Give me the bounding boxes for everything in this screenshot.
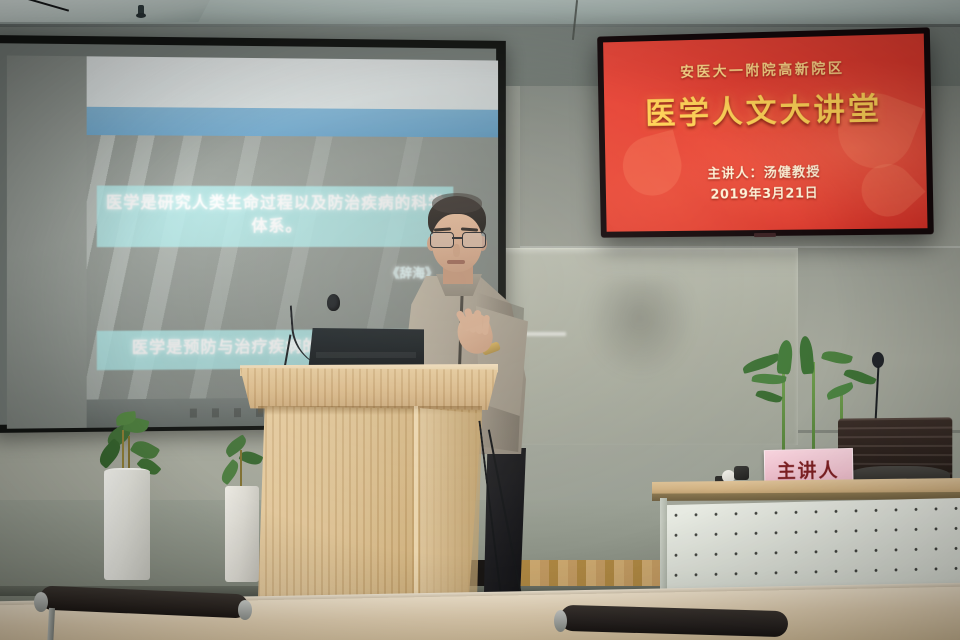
eyeglass-lens [462,232,486,248]
ceiling-seam [0,24,960,27]
wood-grain [240,368,498,410]
tv-event-title: 医学人文大讲堂 [604,82,926,134]
podium-edge-highlight [414,406,418,602]
laptop-screen-glint [316,352,416,358]
slide-blue-band [87,107,498,138]
eyeglass-lens [430,232,454,248]
planter-pot [104,470,150,580]
podium-top [240,368,498,410]
eyeglass-bridge [452,237,462,239]
tv-brand-logo [754,233,776,237]
presenter-mouth [447,260,465,264]
nameplate-label: 主讲人 [777,455,840,483]
chair-frame [47,608,55,640]
lecture-hall-photo: 医学是研究人类生命过程以及防治疾病的科学体系。 《辞海》 医学是预防与治疗疾病的… [0,0,960,640]
wall-mounted-tv: 安医大一附院高新院区 医学人文大讲堂 主讲人：汤健教授 2019年3月21日 [597,27,934,237]
planter-pot [225,486,259,582]
chair-backrest [560,605,789,637]
podium-microphone-head [327,294,340,311]
chair-backrest [40,585,249,618]
ceiling-vent [0,0,210,22]
foreground-chair-left [40,590,250,640]
foreground-chair-right [560,608,790,640]
podium-side-panel [420,408,482,600]
ceiling-sprinkler-icon [138,5,144,17]
chair-armrest-cap [34,592,48,612]
plant-stem [240,450,242,490]
chair-armrest-cap [554,610,567,632]
tv-screen: 安医大一附院高新院区 医学人文大讲堂 主讲人：汤健教授 2019年3月21日 [603,34,927,232]
presenter-nose [453,244,460,257]
whiteboard-shadow [585,278,695,378]
desk-object-dark [734,466,749,480]
chair-armrest-cap [238,600,252,620]
tv-organization-line: 安医大一附院高新院区 [603,56,924,84]
presenter-hair-highlight [432,193,482,213]
